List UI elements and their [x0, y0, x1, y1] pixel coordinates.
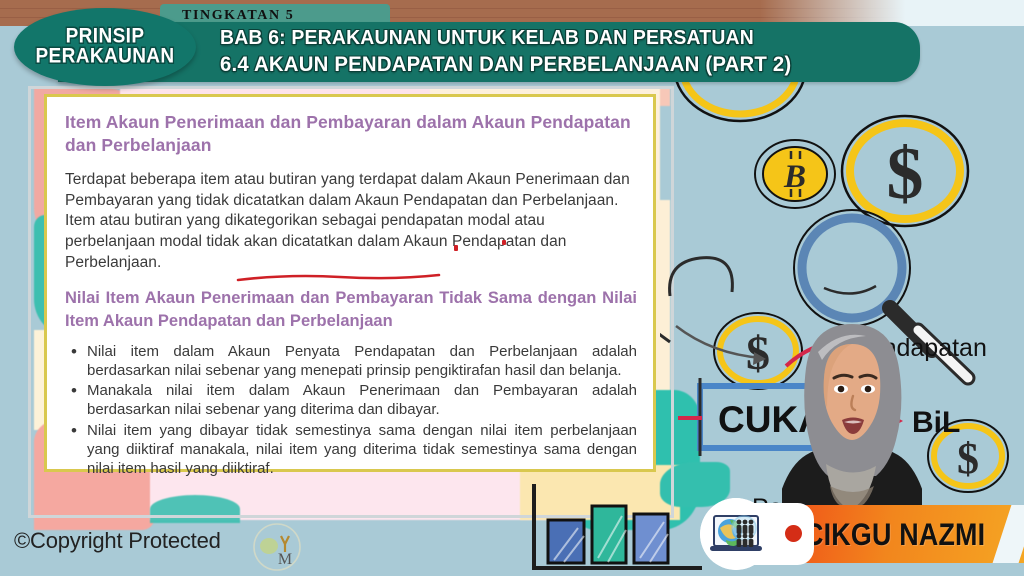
- list-item: Nilai item dalam Akaun Penyata Pendapata…: [69, 342, 637, 380]
- svg-text:$: $: [746, 327, 770, 380]
- bar-chart-doodle: [520, 482, 705, 576]
- presenter-name: CIKGU NAZMI: [804, 517, 985, 553]
- watermark-logo-icon: M: [250, 520, 304, 574]
- channel-logo-icon: [700, 498, 772, 570]
- svg-text:M: M: [278, 551, 292, 568]
- chapter-title: BAB 6: PERAKAUNAN UNTUK KELAB DAN PERSAT…: [220, 27, 754, 50]
- topic-title: 6.4 AKAUN PENDAPATAN DAN PERBELANJAAN (P…: [220, 53, 791, 77]
- svg-text:$: $: [887, 133, 924, 215]
- section-paragraph-1: Terdapat beberapa item atau butiran yang…: [65, 170, 637, 273]
- section-heading-1: Item Akaun Penerimaan dan Pembayaran dal…: [65, 111, 637, 157]
- form-level-label: TINGKATAN 5: [160, 4, 390, 24]
- bullet-list: Nilai item dalam Akaun Penyata Pendapata…: [69, 342, 637, 478]
- red-dot-annotation: [502, 240, 506, 245]
- namebar-slash-accent: [993, 505, 1024, 563]
- svg-text:B: B: [783, 159, 806, 195]
- record-dot-icon: [785, 525, 802, 542]
- red-dot-annotation: [454, 245, 458, 251]
- section-heading-2: Nilai Item Akaun Penerimaan dan Pembayar…: [65, 287, 637, 333]
- copyright-text: ©Copyright Protected: [14, 528, 221, 554]
- slide-content-card: Item Akaun Penerimaan dan Pembayaran dal…: [44, 94, 656, 472]
- subject-logo-badge: PRINSIP PERAKAUNAN: [14, 8, 196, 86]
- bitcoin-coin-icon: B: [755, 140, 835, 208]
- presenter-webcam: [782, 318, 922, 533]
- svg-text:$: $: [957, 434, 979, 483]
- subject-logo-line2: PERAKAUNAN: [35, 46, 174, 69]
- video-frame: $ B $ $: [0, 0, 1024, 576]
- list-item: Manakala nilai item dalam Akaun Penerima…: [69, 381, 637, 419]
- list-item: Nilai item yang dibayar tidak semestinya…: [69, 421, 637, 479]
- dollar-coin-icon: $: [842, 116, 968, 226]
